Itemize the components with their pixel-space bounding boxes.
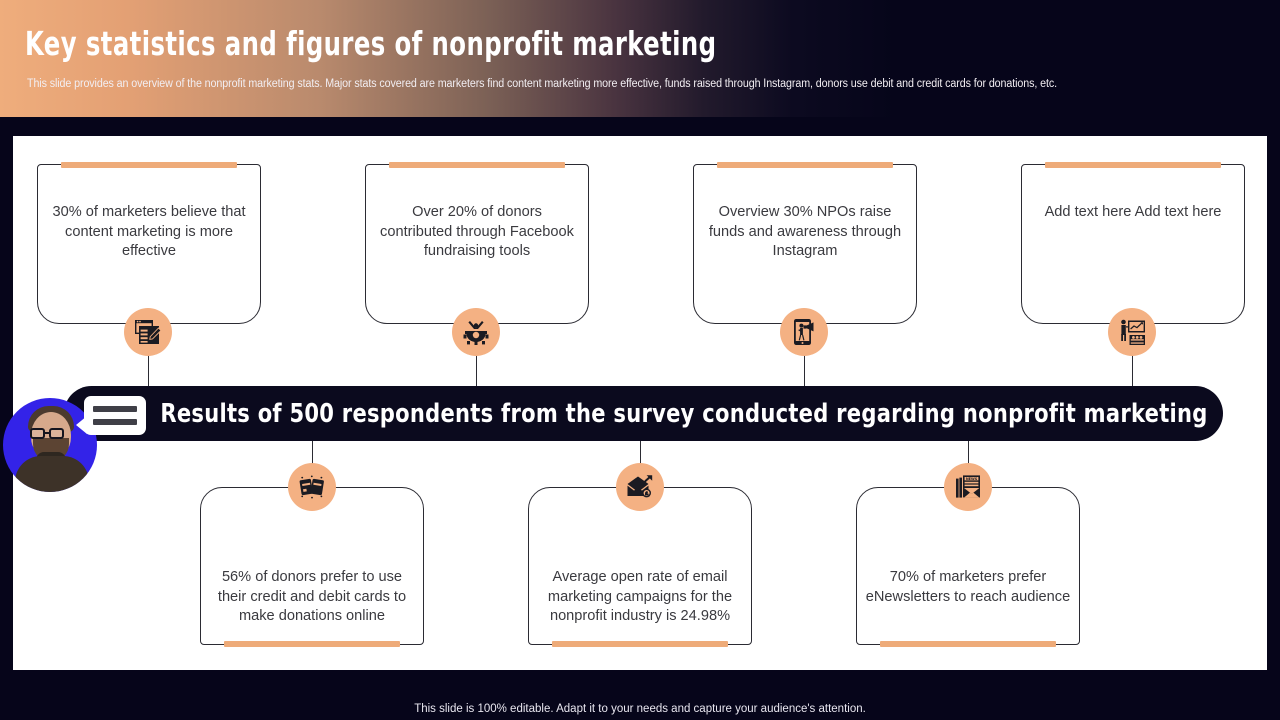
slide-header: Key statistics and figures of nonprofit …: [0, 0, 1280, 117]
stat-card-text: 56% of donors prefer to use their credit…: [209, 568, 415, 627]
card-accent-bar: [552, 641, 728, 647]
stat-card-top-2[interactable]: Over 20% of donors contributed through F…: [365, 164, 589, 324]
stat-card-top-1[interactable]: 30% of marketers believe that content ma…: [37, 164, 261, 324]
stat-card-text: Over 20% of donors contributed through F…: [374, 203, 580, 262]
footer-note: This slide is 100% editable. Adapt it to…: [0, 703, 1280, 715]
card-accent-bar: [224, 641, 400, 647]
fundraising-gear-icon: [452, 308, 500, 356]
stat-card-text: Average open rate of email marketing cam…: [537, 568, 743, 627]
connector-top-1: [148, 355, 149, 388]
page-subtitle: This slide provides an overview of the n…: [27, 78, 1057, 90]
avatar: [3, 398, 97, 492]
connector-top-4: [1132, 355, 1133, 388]
card-accent-bar: [61, 162, 237, 168]
connector-top-2: [476, 355, 477, 388]
card-accent-bar: [880, 641, 1056, 647]
center-banner: Results of 500 respondents from the surv…: [64, 386, 1223, 441]
message-lines-icon: [84, 396, 146, 435]
bubble-tail: [76, 416, 87, 434]
page-title: Key statistics and figures of nonprofit …: [25, 24, 716, 63]
content-editor-icon: [124, 308, 172, 356]
credit-cards-icon: [288, 463, 336, 511]
avatar-glasses-bridge: [45, 432, 51, 434]
card-accent-bar: [1045, 162, 1221, 168]
avatar-glasses-left: [30, 428, 45, 439]
stat-card-text: Add text here Add text here: [1030, 203, 1236, 223]
mobile-megaphone-icon: [780, 308, 828, 356]
connector-top-3: [804, 355, 805, 388]
card-accent-bar: [717, 162, 893, 168]
svg-text:NEWS: NEWS: [966, 477, 978, 481]
stat-card-text: 70% of marketers prefer eNewsletters to …: [865, 568, 1071, 607]
banner-title: Results of 500 respondents from the surv…: [122, 386, 1165, 441]
stat-card-top-3[interactable]: Overview 30% NPOs raise funds and awaren…: [693, 164, 917, 324]
presentation-chart-icon: [1108, 308, 1156, 356]
stat-card-text: 30% of marketers believe that content ma…: [46, 203, 252, 262]
stat-card-top-4[interactable]: Add text here Add text here: [1021, 164, 1245, 324]
avatar-group: [0, 398, 150, 492]
avatar-body: [15, 456, 89, 492]
bubble-line-2: [93, 419, 137, 425]
card-accent-bar: [389, 162, 565, 168]
avatar-glasses-right: [49, 428, 64, 439]
bubble-line-1: [93, 406, 137, 412]
email-growth-icon: [616, 463, 664, 511]
stat-card-text: Overview 30% NPOs raise funds and awaren…: [702, 203, 908, 262]
newsletter-icon: NEWS: [944, 463, 992, 511]
